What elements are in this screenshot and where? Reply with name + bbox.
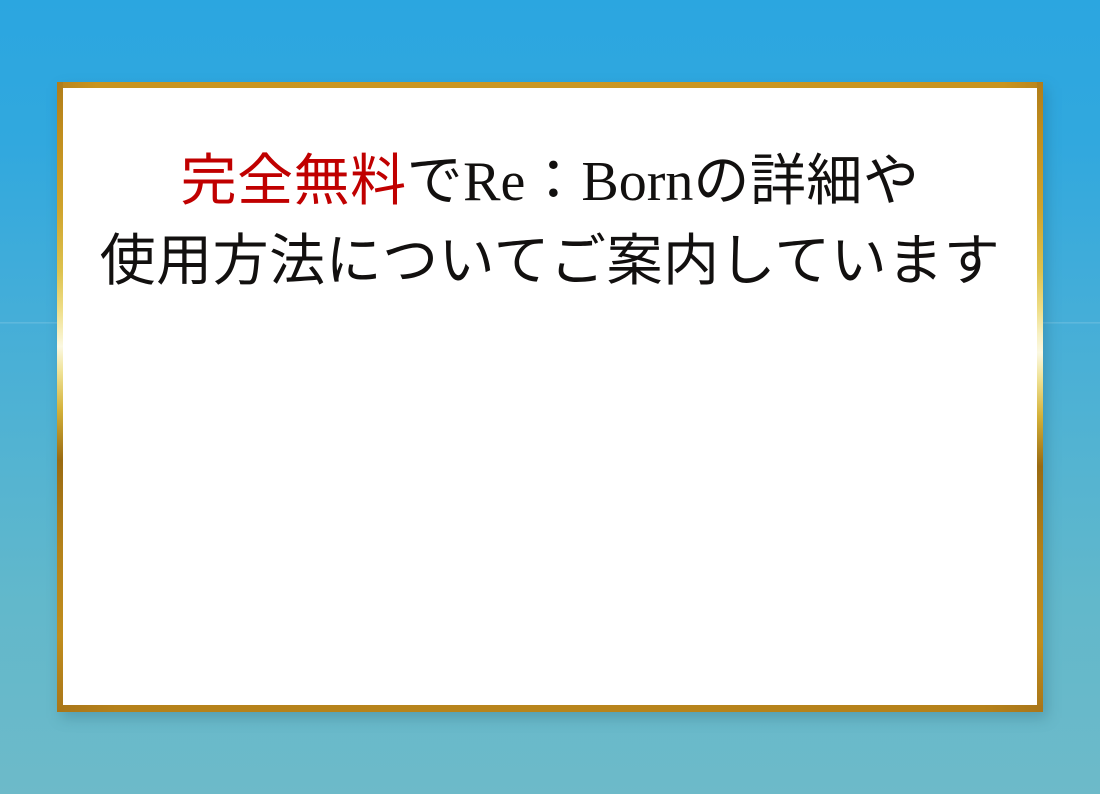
card-frame-bottom-border xyxy=(57,705,1043,712)
headline-block: 完全無料でRe：Bornの詳細や 使用方法についてご案内しています xyxy=(63,142,1037,302)
headline-line-1-tail: の詳細や xyxy=(693,151,919,213)
content-card: 完全無料でRe：Bornの詳細や 使用方法についてご案内しています xyxy=(57,82,1043,712)
headline-line-1-connector: で xyxy=(407,151,464,213)
headline-product-name: Re：Born xyxy=(463,151,693,213)
headline-accent-text: 完全無料 xyxy=(181,151,407,213)
card-empty-body xyxy=(63,312,1037,705)
slide-stage: 完全無料でRe：Bornの詳細や 使用方法についてご案内しています xyxy=(0,0,1100,794)
headline-line-1: 完全無料でRe：Bornの詳細や xyxy=(63,142,1037,222)
headline-line-2: 使用方法についてご案内しています xyxy=(63,222,1037,302)
card-frame-top-border xyxy=(57,82,1043,88)
card-frame-right-border xyxy=(1037,82,1043,712)
